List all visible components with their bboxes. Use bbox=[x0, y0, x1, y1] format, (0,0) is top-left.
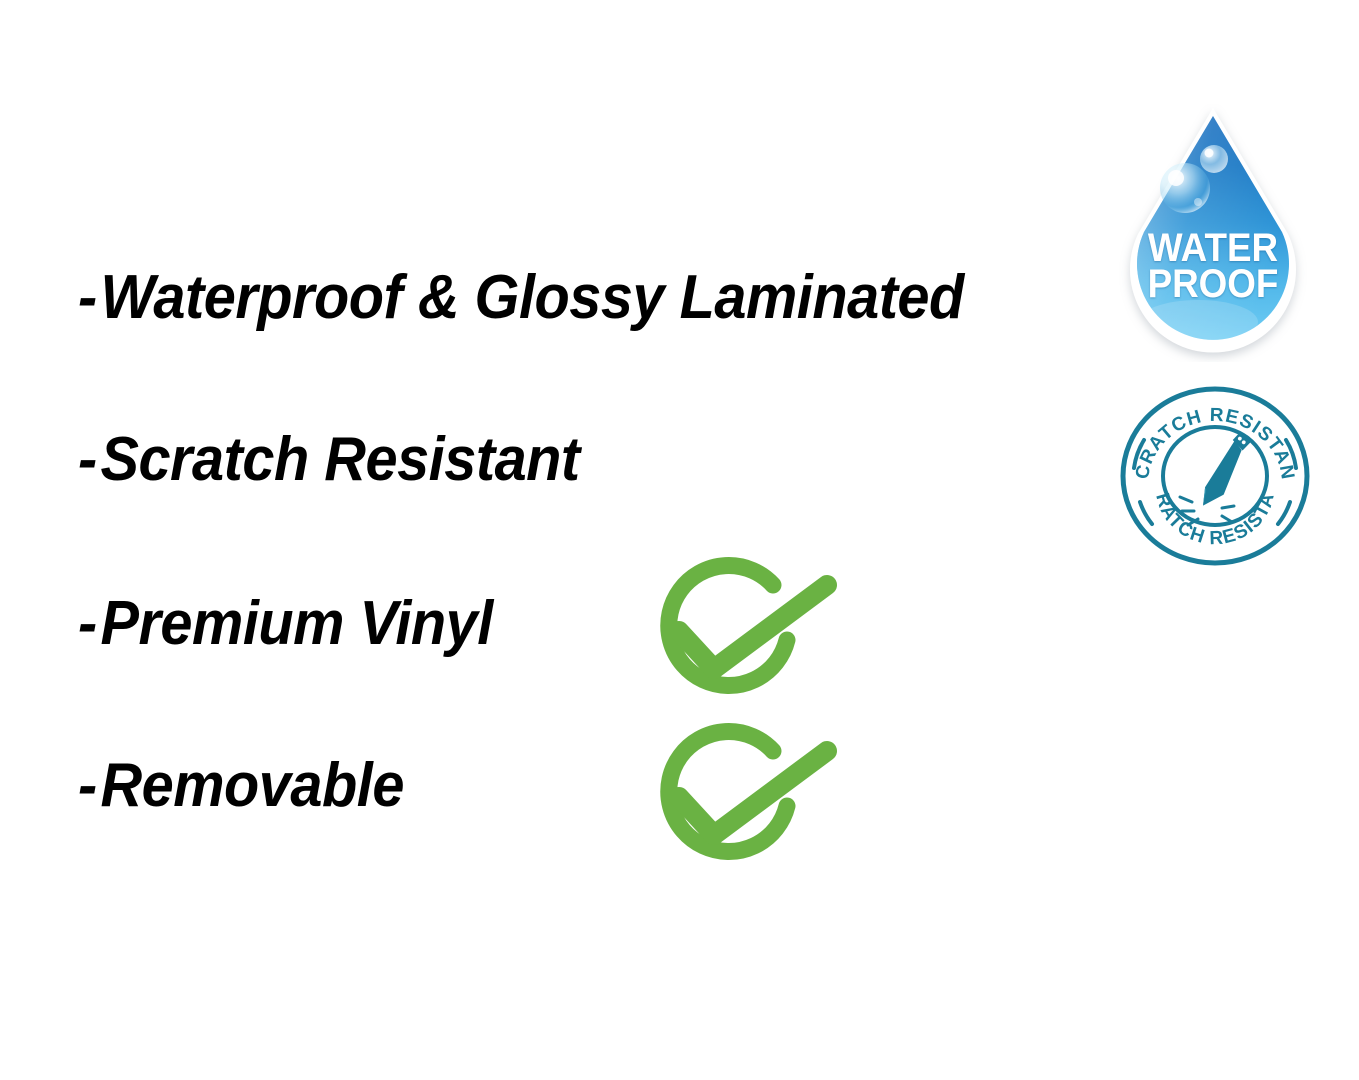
waterproof-badge: water-drop-icon bbox=[1106, 104, 1320, 362]
feature-dash: - bbox=[78, 424, 97, 496]
feature-item-premium-vinyl: -Premium Vinyl bbox=[78, 588, 493, 660]
waterproof-label-line2: PROOF bbox=[1115, 264, 1312, 304]
feature-item-removable: -Removable bbox=[78, 750, 404, 822]
feature-dash: - bbox=[78, 588, 97, 660]
checkmark-premium-vinyl: check-circle-icon bbox=[634, 552, 846, 712]
feature-label: Scratch Resistant bbox=[100, 425, 579, 494]
checkmark-removable: check-circle-icon bbox=[634, 718, 846, 878]
feature-list-graphic: -Waterproof & Glossy Laminated -Scratch … bbox=[0, 0, 1359, 1080]
scratch-arc-text-top: SCRATCH RESISTANT bbox=[1118, 384, 1298, 482]
feature-dash: - bbox=[78, 262, 97, 334]
feature-label: Waterproof & Glossy Laminated bbox=[100, 263, 963, 332]
feature-dash: - bbox=[78, 750, 97, 822]
feature-label: Premium Vinyl bbox=[100, 589, 492, 658]
feature-label: Removable bbox=[100, 751, 403, 820]
feature-item-scratch-resistant: -Scratch Resistant bbox=[78, 424, 580, 496]
scratch-resistant-badge: knife-icon SCRATCH RESISTANT SCRATCH RES… bbox=[1118, 384, 1312, 568]
feature-item-waterproof: -Waterproof & Glossy Laminated bbox=[78, 262, 964, 334]
